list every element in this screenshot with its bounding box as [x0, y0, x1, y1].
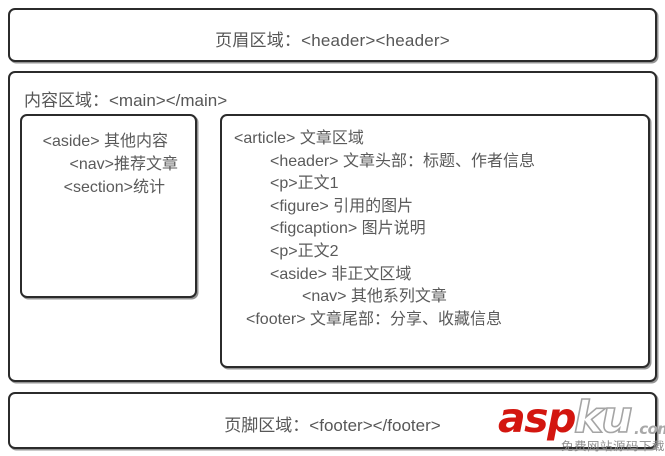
header-region-label: 页眉区域：<header><header> [10, 26, 655, 51]
article-line: <header> 文章头部：标题、作者信息 [234, 151, 535, 174]
article-line: <aside> 非正文区域 [234, 264, 535, 287]
main-region-box: 内容区域：<main></main> <aside> 其他内容 <nav>推荐文… [8, 71, 657, 382]
article-line: <footer> 文章尾部：分享、收藏信息 [234, 309, 535, 332]
article-line: <p>正文1 [234, 173, 535, 196]
footer-region-label: 页脚区域：<footer></footer> [10, 411, 655, 436]
article-line: <figure> 引用的图片 [234, 196, 535, 219]
aside-line: <aside> 其他内容 [22, 130, 187, 153]
article-line: <article> 文章区域 [234, 128, 535, 151]
aside-region-text: <aside> 其他内容 <nav>推荐文章 <section>统计 [22, 130, 187, 199]
article-line: <p>正文2 [234, 241, 535, 264]
header-region-box: 页眉区域：<header><header> [8, 8, 657, 62]
main-region-label: 内容区域：<main></main> [24, 86, 227, 111]
aside-region-box: <aside> 其他内容 <nav>推荐文章 <section>统计 [20, 114, 197, 298]
aside-line: <nav>推荐文章 [22, 153, 187, 176]
article-line: <figcaption> 图片说明 [234, 218, 535, 241]
article-region-box: <article> 文章区域 <header> 文章头部：标题、作者信息 <p>… [220, 114, 650, 368]
footer-region-box: 页脚区域：<footer></footer> [8, 392, 657, 449]
diagram-canvas: 页眉区域：<header><header> 内容区域：<main></main>… [0, 0, 665, 456]
article-region-text: <article> 文章区域 <header> 文章头部：标题、作者信息 <p>… [234, 128, 535, 331]
aside-line: <section>统计 [22, 176, 187, 199]
article-line: <nav> 其他系列文章 [234, 286, 535, 309]
